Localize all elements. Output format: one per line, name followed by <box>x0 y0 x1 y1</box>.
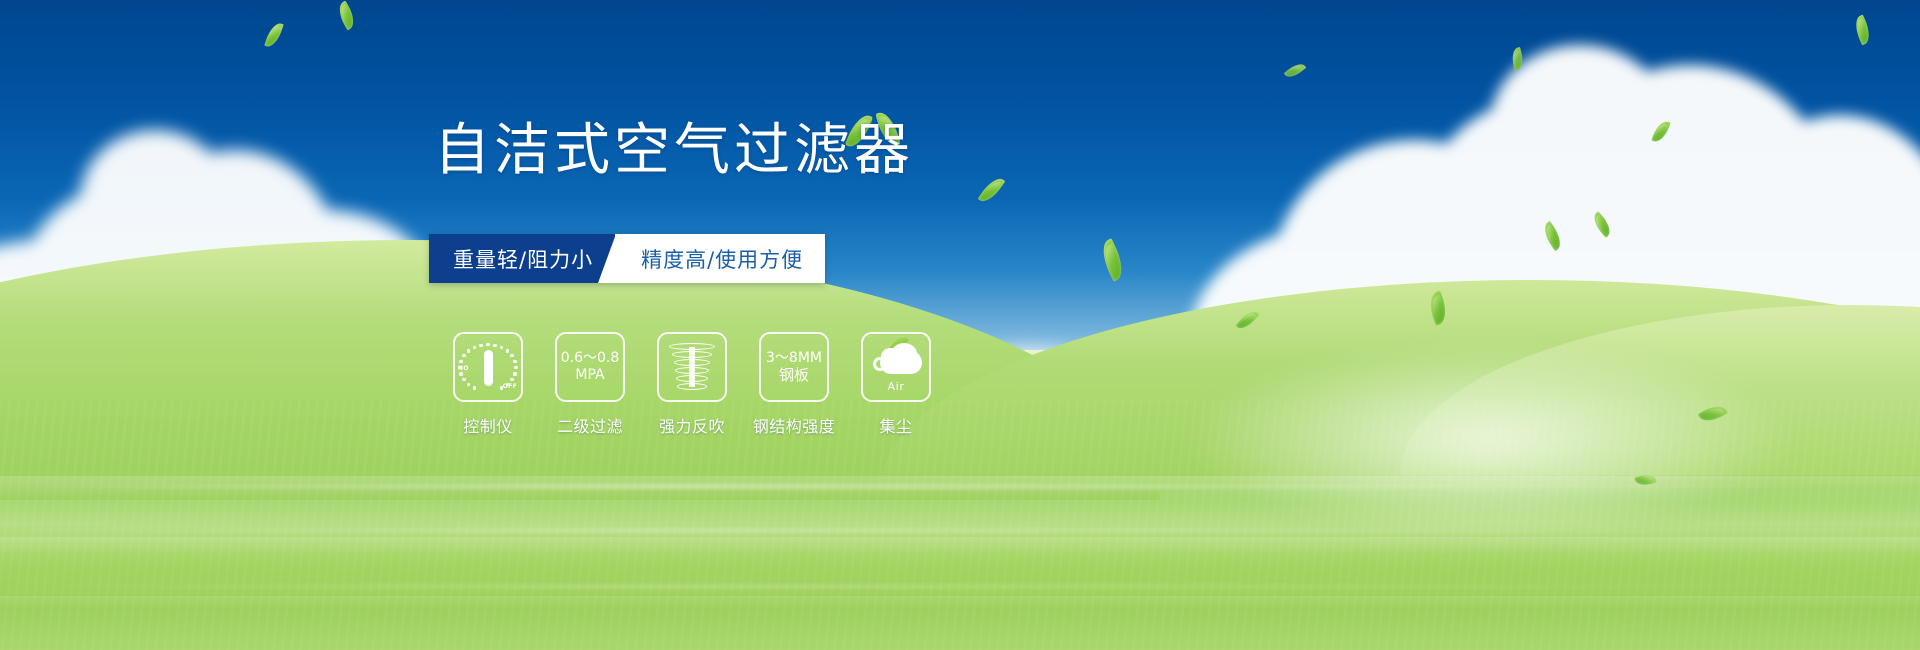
gauge-needle <box>484 350 493 386</box>
feature-item-strong-backblow[interactable]: 强力反吹 <box>641 332 743 437</box>
promo-banner: 自洁式空气过滤器 重量轻/阻力小 精度高/使用方便 <box>0 0 1920 650</box>
gauge-label-off: OFF <box>503 383 517 390</box>
feature-label: 集尘 <box>879 413 912 437</box>
page-title: 自洁式空气过滤器 <box>434 123 914 179</box>
thickness-text-icon: 3～8MM <box>766 350 822 367</box>
feature-label: 强力反吹 <box>659 413 725 437</box>
spiral-rings-icon <box>668 341 716 393</box>
gauge-dial-icon: NO OFF <box>460 341 516 393</box>
tagline-secondary: 精度高/使用方便 <box>615 234 825 283</box>
tagline-bar: 重量轻/阻力小 精度高/使用方便 <box>429 234 825 283</box>
gauge-label-on: NO <box>458 365 469 372</box>
air-text: Air <box>867 380 925 393</box>
feature-icon-box: NO OFF <box>453 332 523 402</box>
steel-plate-text: 钢板 <box>779 367 809 384</box>
feature-label: 控制仪 <box>463 413 513 437</box>
cloud-air-icon: Air <box>867 342 925 392</box>
tagline-primary: 重量轻/阻力小 <box>429 234 615 283</box>
air-swirl-large <box>873 357 887 371</box>
pressure-unit-text: MPA <box>575 367 604 384</box>
feature-item-dust-collection[interactable]: Air 集尘 <box>845 332 947 437</box>
feature-item-steel-strength[interactable]: 3～8MM 钢板 钢结构强度 <box>743 332 845 437</box>
pressure-text-icon: 0.6～0.8 <box>561 350 620 367</box>
feature-list: NO OFF 控制仪 0.6～0.8 MPA 二级过滤 <box>437 332 947 437</box>
feature-item-controller[interactable]: NO OFF 控制仪 <box>437 332 539 437</box>
feature-icon-box <box>657 332 727 402</box>
feature-icon-box: 3～8MM 钢板 <box>759 332 829 402</box>
feature-item-two-stage-filter[interactable]: 0.6～0.8 MPA 二级过滤 <box>539 332 641 437</box>
feature-label: 二级过滤 <box>557 413 623 437</box>
banner-content: 自洁式空气过滤器 重量轻/阻力小 精度高/使用方便 <box>0 0 1920 650</box>
feature-label: 钢结构强度 <box>753 413 836 437</box>
feature-icon-box: 0.6～0.8 MPA <box>555 332 625 402</box>
feature-icon-box: Air <box>861 332 931 402</box>
air-swirl-small <box>885 348 896 359</box>
